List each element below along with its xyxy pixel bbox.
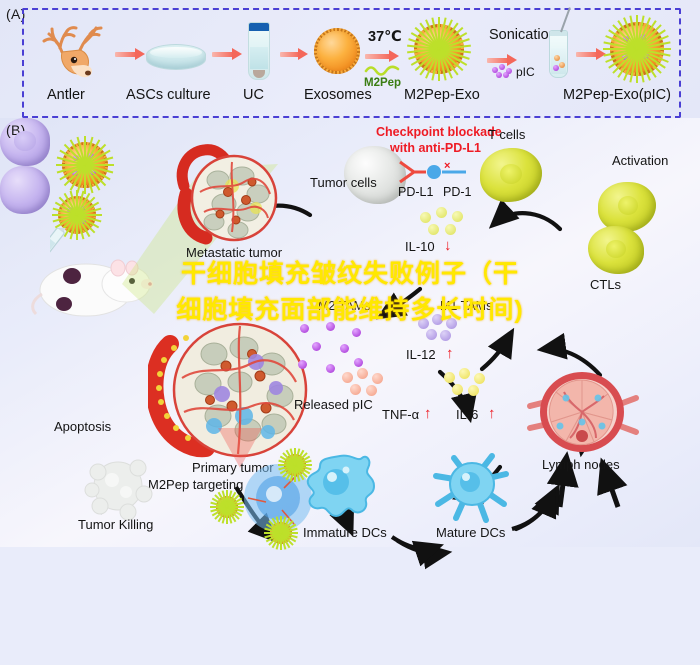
- sonication-annotation: Sonication: [489, 28, 557, 43]
- sonication-tube-icon: [549, 30, 568, 78]
- metastatic-tumor-label: Metastatic tumor: [186, 246, 282, 259]
- peptide-exosome-icon: [414, 24, 464, 74]
- tnfa-cytokine-cluster: [342, 368, 394, 398]
- arrow-exosome-to-m2pep: [365, 52, 399, 61]
- activation-label: Activation: [612, 154, 668, 167]
- il10-cytokine-cluster: [418, 206, 474, 238]
- m2pep-annotation: M2Pep: [364, 78, 401, 90]
- m1-tams-label: M1 TAMs: [440, 300, 492, 313]
- pic-annotation: pIC: [516, 66, 535, 78]
- m1-tam-icon: [0, 166, 50, 214]
- immature-dc-icon: [300, 448, 380, 524]
- arrow-sonication-to-product: [576, 50, 606, 59]
- panel-b: (B): [0, 118, 700, 547]
- panel-a: (A) Antler: [0, 0, 700, 118]
- figure-root: (A) Antler: [0, 0, 700, 547]
- centrifuge-tube-icon: [248, 22, 270, 80]
- tnfa-label: TNF-α: [382, 408, 419, 421]
- tumor-cells-label: Tumor cells: [310, 176, 377, 189]
- t-cells-label: T cells: [488, 128, 525, 141]
- il10-label: IL-10: [405, 240, 435, 253]
- svg-text:×: ×: [444, 160, 450, 172]
- step-label-uc: UC: [243, 88, 264, 103]
- il12-cytokine-cluster: [418, 314, 470, 344]
- temperature-annotation: 37℃: [368, 30, 402, 45]
- il6-label: IL-6: [456, 408, 478, 421]
- step-label-exosomes: Exosomes: [304, 88, 372, 103]
- apoptotic-cell-icon: [80, 450, 158, 524]
- pic-cluster-icon: [492, 64, 514, 78]
- ctl-cell-2: [588, 226, 644, 274]
- immature-dcs-label: Immature DCs: [303, 526, 387, 539]
- step-label-asc-culture: ASCs culture: [126, 88, 211, 103]
- m2-tams-label: M2 TAMs: [318, 300, 370, 313]
- targeting-exosome-2: [216, 496, 238, 518]
- checkpoint-blockade-line1: Checkpoint blockade: [376, 126, 502, 139]
- ctls-label: CTLs: [590, 278, 621, 291]
- il12-label: IL-12: [406, 348, 436, 361]
- injected-exosome-1: [62, 142, 108, 188]
- arrow-antler-to-culture: [115, 50, 145, 59]
- deer-icon: [40, 22, 112, 80]
- petri-dish-icon: [146, 44, 206, 70]
- il12-direction: ↑: [446, 346, 454, 361]
- lymph-node-icon: [524, 364, 640, 458]
- primary-tumor-icon: [148, 308, 316, 470]
- targeting-exosome-3: [270, 522, 292, 544]
- il6-direction: ↑: [488, 406, 496, 421]
- tnfa-direction: ↑: [424, 406, 432, 421]
- pd-1-label: PD-1: [443, 186, 471, 199]
- exosome-icon: [314, 28, 360, 74]
- tumor-killing-label: Tumor Killing: [78, 518, 153, 531]
- arrow-uc-to-exosomes: [280, 50, 308, 59]
- il6-cytokine-cluster: [444, 368, 496, 398]
- arrow-culture-to-uc: [212, 50, 242, 59]
- step-label-m2pep-exo: M2Pep-Exo: [404, 88, 480, 103]
- mature-dc-icon: [430, 448, 514, 526]
- il10-direction: ↓: [444, 238, 452, 253]
- ctl-cell-1: [598, 182, 656, 232]
- metastatic-tumor-icon: [172, 142, 290, 252]
- m2pep-peptide-icon: [364, 62, 402, 76]
- checkpoint-blockade-line2: with anti-PD-L1: [390, 142, 481, 155]
- step-label-antler: Antler: [47, 88, 85, 103]
- t-cell-icon: [480, 148, 542, 202]
- pd-l1-label: PD-L1: [398, 186, 433, 199]
- step-label-m2pep-exo-pic: M2Pep-Exo(pIC): [563, 88, 671, 103]
- apoptosis-label: Apoptosis: [54, 420, 111, 433]
- lymph-nodes-label: Lymph nodes: [542, 458, 620, 471]
- m2pep-targeting-label: M2Pep targeting: [148, 478, 243, 491]
- mature-dcs-label: Mature DCs: [436, 526, 505, 539]
- released-pic-label: Released pIC: [294, 398, 373, 411]
- loaded-exosome-icon: [610, 22, 664, 76]
